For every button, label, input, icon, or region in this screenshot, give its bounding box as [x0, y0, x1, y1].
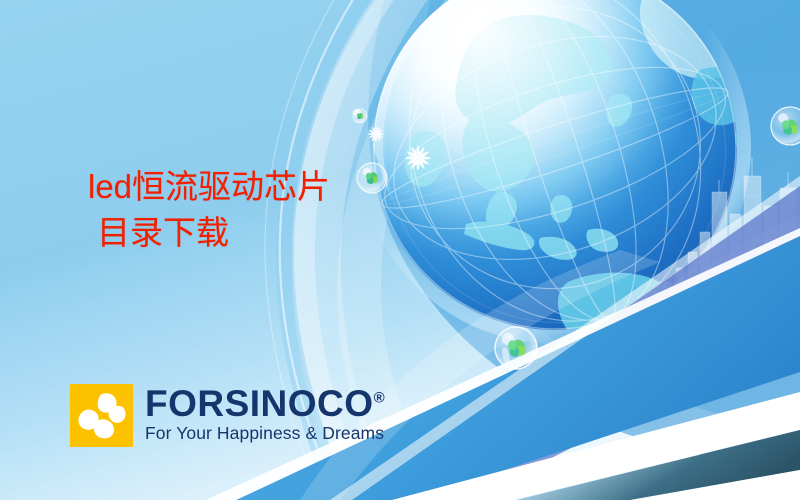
bubble-pinwheel-4 — [353, 109, 367, 123]
company-logo: FORSINOCO® For Your Happiness & Dreams — [70, 384, 385, 447]
headline-text: led恒流驱动芯片 目录下载 — [88, 166, 330, 254]
headline-line-2: 目录下载 — [88, 212, 330, 254]
bubble-pinwheel-1 — [357, 163, 387, 193]
registered-trademark-icon: ® — [374, 390, 385, 407]
logo-wordmark: FORSINOCO® — [145, 385, 385, 423]
logo-text-block: FORSINOCO® For Your Happiness & Dreams — [145, 385, 385, 443]
pinwheel-flower-icon — [70, 384, 133, 447]
promo-banner: led恒流驱动芯片 目录下载 FORSINOCO® — [0, 0, 800, 500]
headline-line-1: led恒流驱动芯片 — [88, 168, 330, 205]
logo-tagline: For Your Happiness & Dreams — [145, 423, 385, 443]
logo-wordmark-text: FORSINOCO — [145, 383, 374, 424]
bubble-pinwheel-2 — [495, 327, 537, 369]
